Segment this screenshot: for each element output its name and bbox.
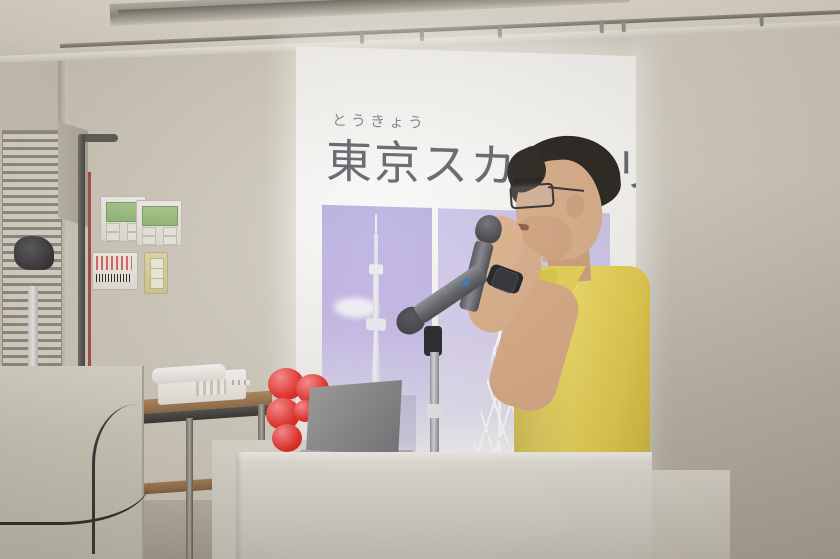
skytree-shaft-upper bbox=[373, 274, 379, 320]
thermostat-button[interactable] bbox=[106, 223, 120, 232]
light-switch-plate[interactable] bbox=[144, 252, 168, 294]
red-balloon bbox=[272, 424, 302, 452]
thermostat-button[interactable] bbox=[142, 227, 156, 236]
thermostat-button[interactable] bbox=[163, 236, 177, 245]
air-conditioner-thermostat-right[interactable] bbox=[136, 200, 182, 246]
telephone-line-buttons[interactable] bbox=[232, 380, 250, 385]
thermostat-button[interactable] bbox=[106, 232, 120, 241]
podium-edge bbox=[236, 452, 242, 559]
rail-hook-icon bbox=[759, 13, 764, 26]
light-head bbox=[14, 236, 54, 270]
right-side-table bbox=[640, 470, 730, 559]
breaker-label-strip bbox=[96, 274, 132, 282]
podium-top-surface bbox=[236, 452, 652, 464]
light-switch-key[interactable] bbox=[150, 278, 164, 289]
stand-height-collar[interactable] bbox=[427, 404, 442, 418]
skytree-upper-deck bbox=[369, 264, 383, 274]
podium bbox=[236, 452, 652, 559]
thermostat-lcd-display bbox=[142, 206, 178, 226]
ear bbox=[566, 194, 584, 218]
conduit-pipe bbox=[78, 134, 85, 384]
light-stand-pole bbox=[28, 286, 38, 372]
floor-cable bbox=[92, 404, 205, 554]
skytree-mast-lower bbox=[374, 234, 378, 268]
presentation-photo-scene: とうきょう 東京スカイツリー bbox=[0, 0, 840, 559]
telephone-keypad[interactable] bbox=[196, 379, 226, 396]
thermostat-button[interactable] bbox=[163, 227, 177, 236]
skytree-tembo-deck bbox=[366, 318, 386, 331]
red-cable bbox=[88, 172, 91, 382]
cloud bbox=[334, 297, 378, 318]
macbook-laptop[interactable] bbox=[306, 380, 402, 456]
thermostat-button[interactable] bbox=[142, 236, 156, 245]
breaker-switch-row[interactable] bbox=[96, 256, 132, 270]
